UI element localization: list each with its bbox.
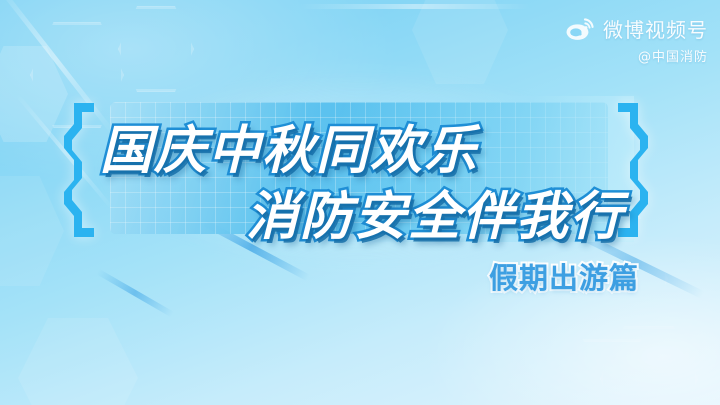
left-curly-bracket-icon xyxy=(60,100,100,240)
watermark: 微博视频号 @中国消防 xyxy=(566,14,708,65)
watermark-channel-name: 微博视频号 xyxy=(603,14,708,43)
watermark-account: @中国消防 xyxy=(566,46,708,65)
hexagon-shape xyxy=(0,46,68,142)
hexagon-shape xyxy=(18,318,138,405)
hexagon-shape xyxy=(0,176,64,286)
light-streak xyxy=(96,269,173,317)
panel-fade-overlay xyxy=(86,96,634,242)
video-frame: 国庆中秋同欢乐 消防安全伴我行 假期出游篇 微博视频号 @中国消防 xyxy=(0,0,720,405)
light-streak xyxy=(300,4,530,9)
weibo-logo-icon xyxy=(566,17,596,41)
right-curly-bracket-icon xyxy=(612,100,652,240)
title-backdrop-panel xyxy=(86,96,634,242)
hexagon-shape xyxy=(600,326,698,405)
